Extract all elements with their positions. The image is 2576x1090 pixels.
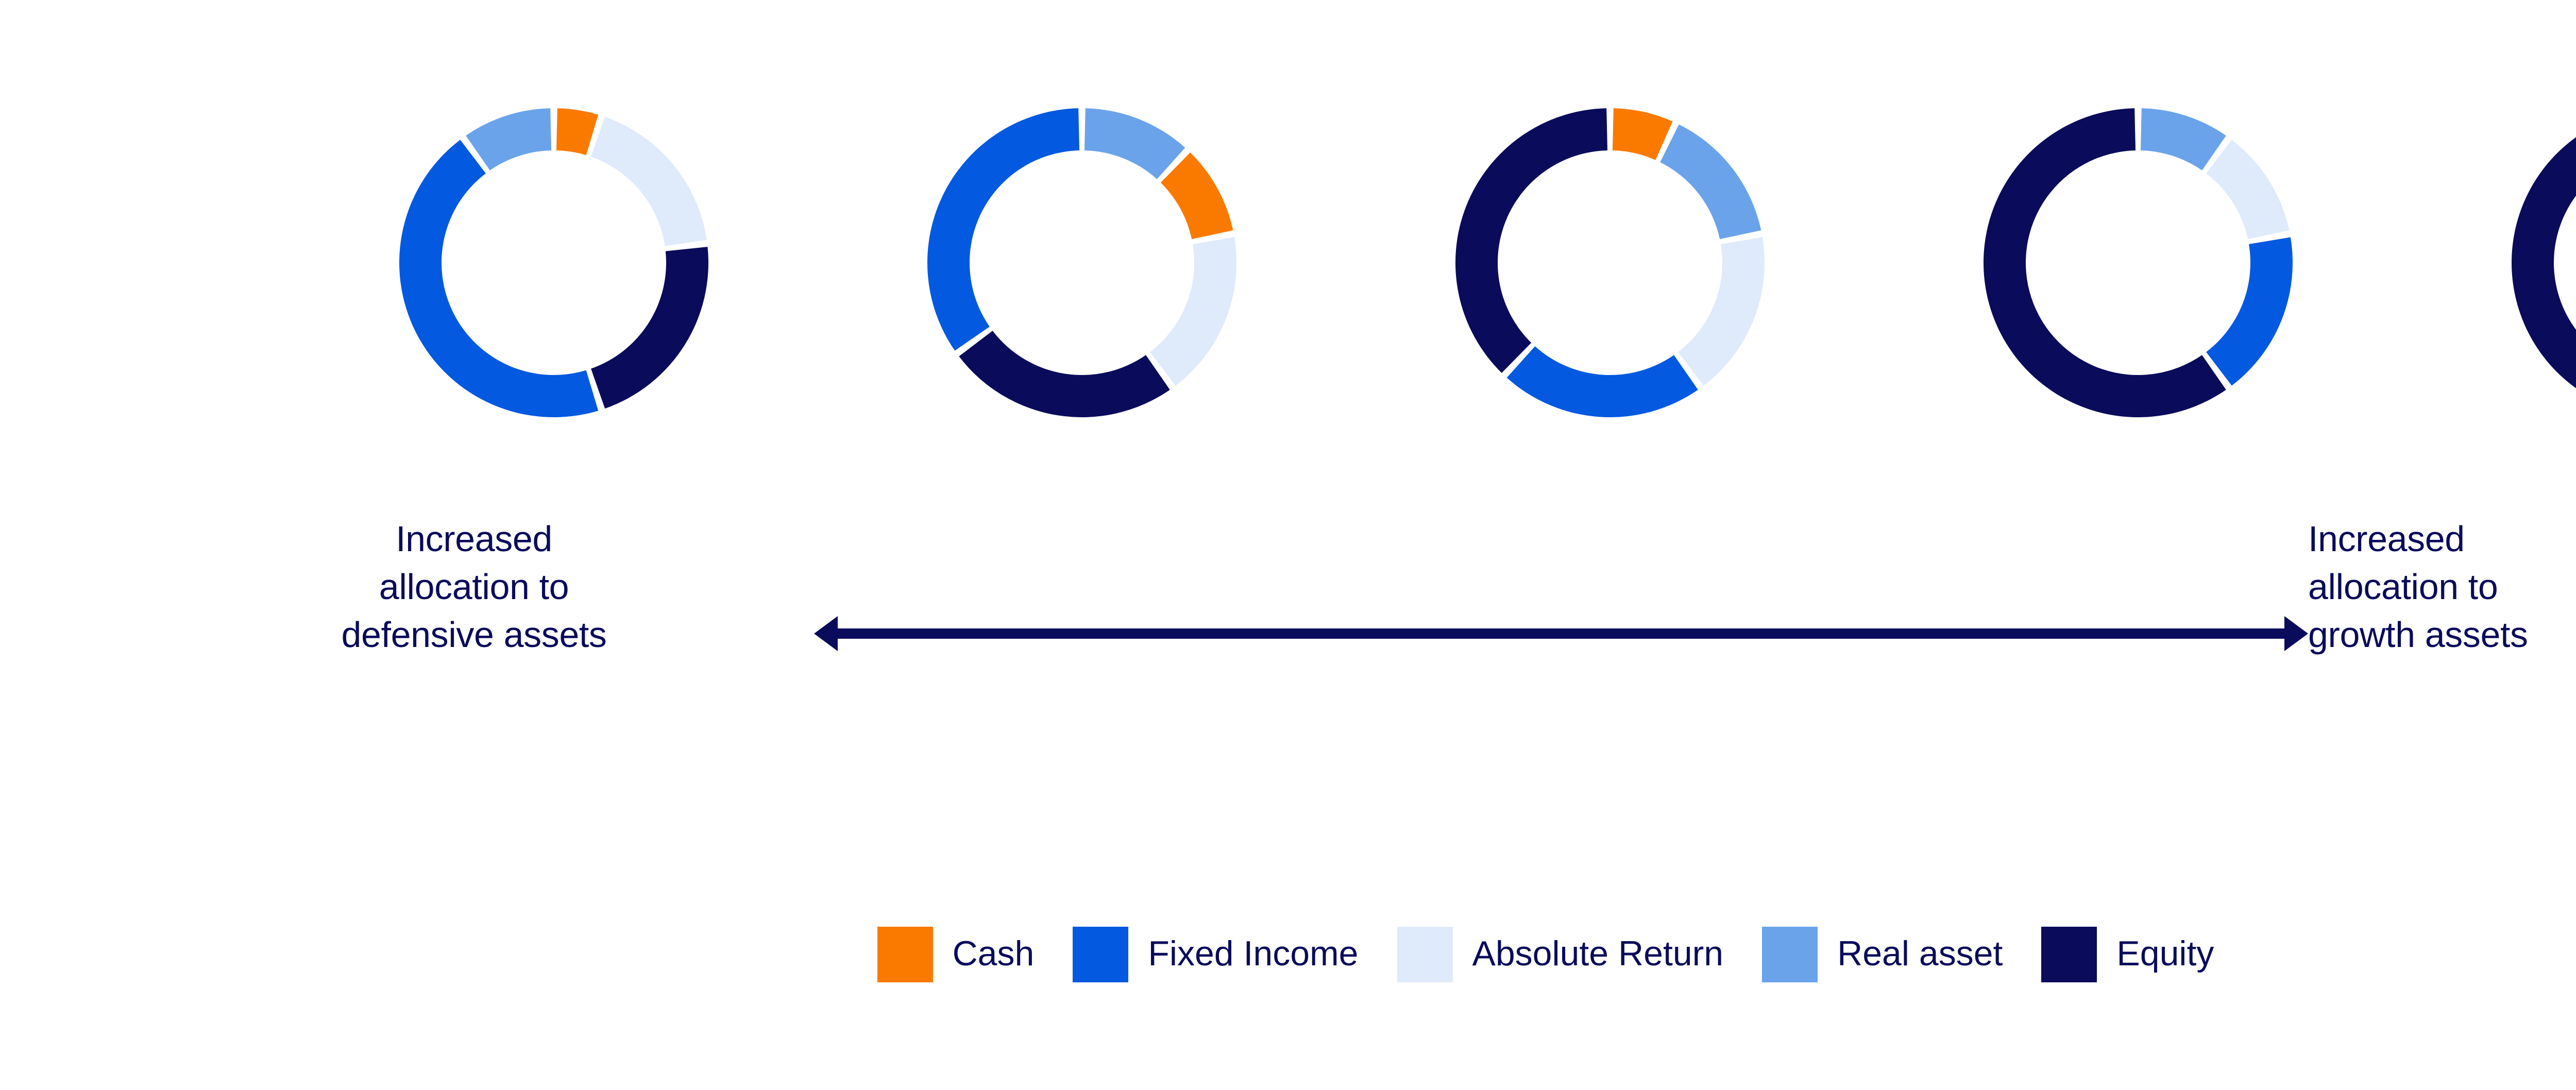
- legend-item-real_asset: Real asset: [1762, 904, 2003, 982]
- donut-slice-cash: [1161, 152, 1233, 239]
- donut-slice-absolute-return: [2206, 140, 2289, 239]
- donut-slice-fixed-income: [399, 140, 598, 417]
- allocation-spectrum-arrow-band: Increased allocation to defensive assets…: [0, 515, 2576, 752]
- donut-slice-real-asset: [1660, 125, 1761, 240]
- donut-slice-real-asset: [1084, 108, 1185, 179]
- legend-item-fixed_income: Fixed Income: [1073, 904, 1358, 982]
- donut-slice-fixed-income: [927, 108, 1079, 351]
- donut-slice-equity: [1455, 108, 1607, 373]
- legend-item-absolute_return: Absolute Return: [1397, 904, 1724, 982]
- donut-chart-2: [902, 41, 1262, 433]
- donut-slice-fixed-income: [1507, 346, 1698, 417]
- donut-slice-equity: [2512, 108, 2576, 417]
- arrow-shaft: [836, 628, 2286, 639]
- donut-chart-5-svg: [2486, 41, 2576, 433]
- donut-slice-cash: [556, 108, 598, 155]
- donut-chart-1: [374, 41, 734, 433]
- legend-item-cash: Cash: [877, 904, 1035, 982]
- legend-label-real_asset: Real asset: [1837, 936, 2003, 971]
- axis-label-defensive: Increased allocation to defensive assets: [216, 515, 732, 659]
- donut-chart-3: [1430, 41, 1790, 433]
- donut-slice-cash: [1613, 108, 1673, 160]
- donut-slice-absolute-return: [1150, 237, 1236, 385]
- legend-swatch-absolute_return: [1397, 927, 1453, 982]
- donut-chart-3-svg: [1430, 41, 1790, 433]
- legend-label-cash: Cash: [953, 936, 1035, 971]
- donut-chart-4-svg: [1958, 41, 2318, 433]
- donut-slice-absolute-return: [591, 117, 707, 246]
- donut-slice-absolute-return: [1678, 237, 1765, 385]
- spectrum-arrow-svg: [814, 610, 2308, 657]
- donut-chart-2-svg: [902, 41, 1262, 433]
- legend-swatch-fixed_income: [1073, 927, 1128, 982]
- donut-chart-1-svg: [374, 41, 734, 433]
- legend-swatch-real_asset: [1762, 927, 1818, 982]
- donut-chart-row: [0, 0, 2576, 479]
- legend-swatch-cash: [877, 927, 933, 982]
- donut-slice-real-asset: [2141, 108, 2226, 171]
- donut-chart-4: [1958, 41, 2318, 433]
- legend-label-absolute_return: Absolute Return: [1472, 936, 1724, 971]
- arrow-head-left-icon: [814, 616, 838, 651]
- arrow-head-right-icon: [2284, 616, 2308, 651]
- legend: CashFixed IncomeAbsolute ReturnReal asse…: [0, 904, 2576, 1023]
- axis-label-growth: Increased allocation to growth assets: [2308, 515, 2576, 659]
- donut-slice-equity: [591, 247, 708, 408]
- legend-label-fixed_income: Fixed Income: [1148, 936, 1358, 971]
- donut-slice-real-asset: [466, 108, 551, 171]
- legend-label-equity: Equity: [2116, 936, 2214, 971]
- legend-swatch-equity: [2041, 927, 2097, 982]
- donut-chart-5: [2486, 41, 2576, 433]
- donut-slice-equity: [959, 331, 1170, 417]
- spectrum-arrow: [814, 610, 2308, 657]
- legend-item-equity: Equity: [2041, 904, 2214, 982]
- donut-slice-fixed-income: [2206, 237, 2293, 385]
